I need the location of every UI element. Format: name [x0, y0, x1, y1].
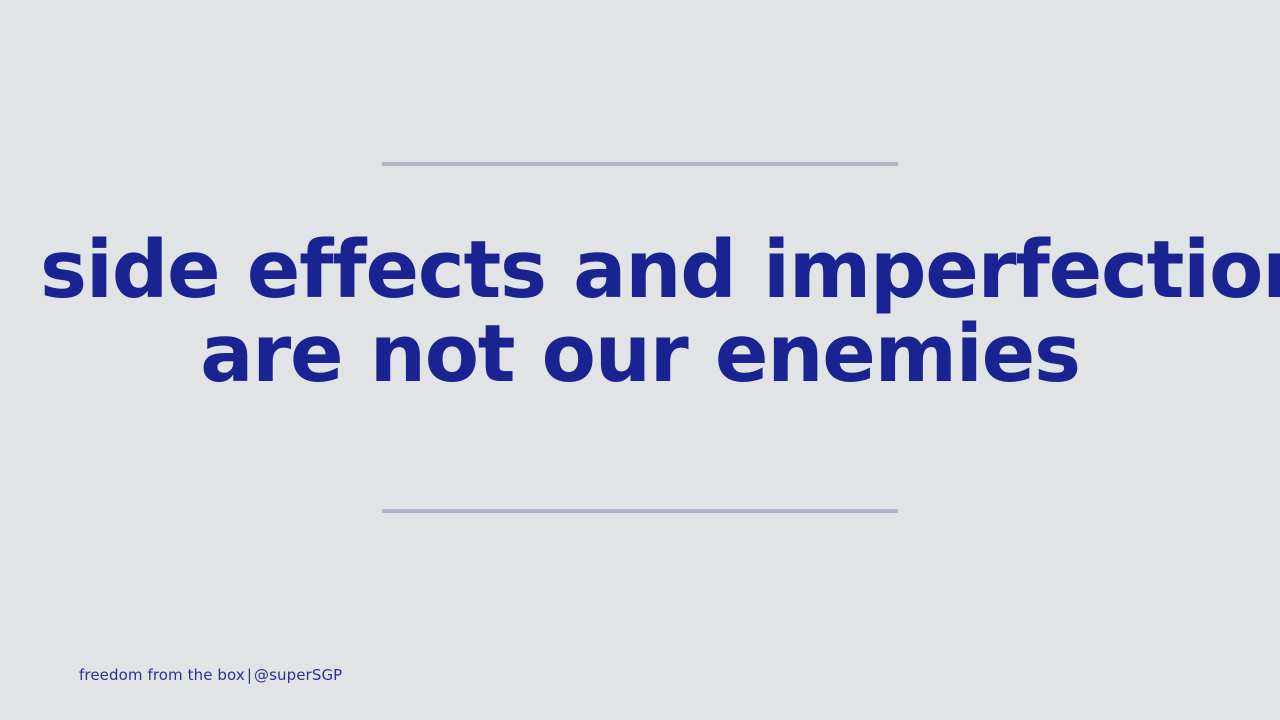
footer-handle: @superSGP	[254, 666, 342, 684]
top-divider-rule	[382, 162, 898, 166]
headline-line-2: are not our enemies	[40, 312, 1240, 396]
footer-separator: |	[245, 666, 254, 684]
footer-talk-title: freedom from the box	[79, 666, 245, 684]
slide-footer: freedom from the box|@superSGP	[79, 665, 342, 685]
headline-line-1: side effects and imperfection	[40, 228, 1240, 312]
page-title: side effects and imperfection are not ou…	[40, 228, 1240, 396]
bottom-divider-rule	[382, 509, 898, 513]
presentation-slide: side effects and imperfection are not ou…	[0, 0, 1280, 720]
headline-block: side effects and imperfection are not ou…	[0, 228, 1280, 396]
